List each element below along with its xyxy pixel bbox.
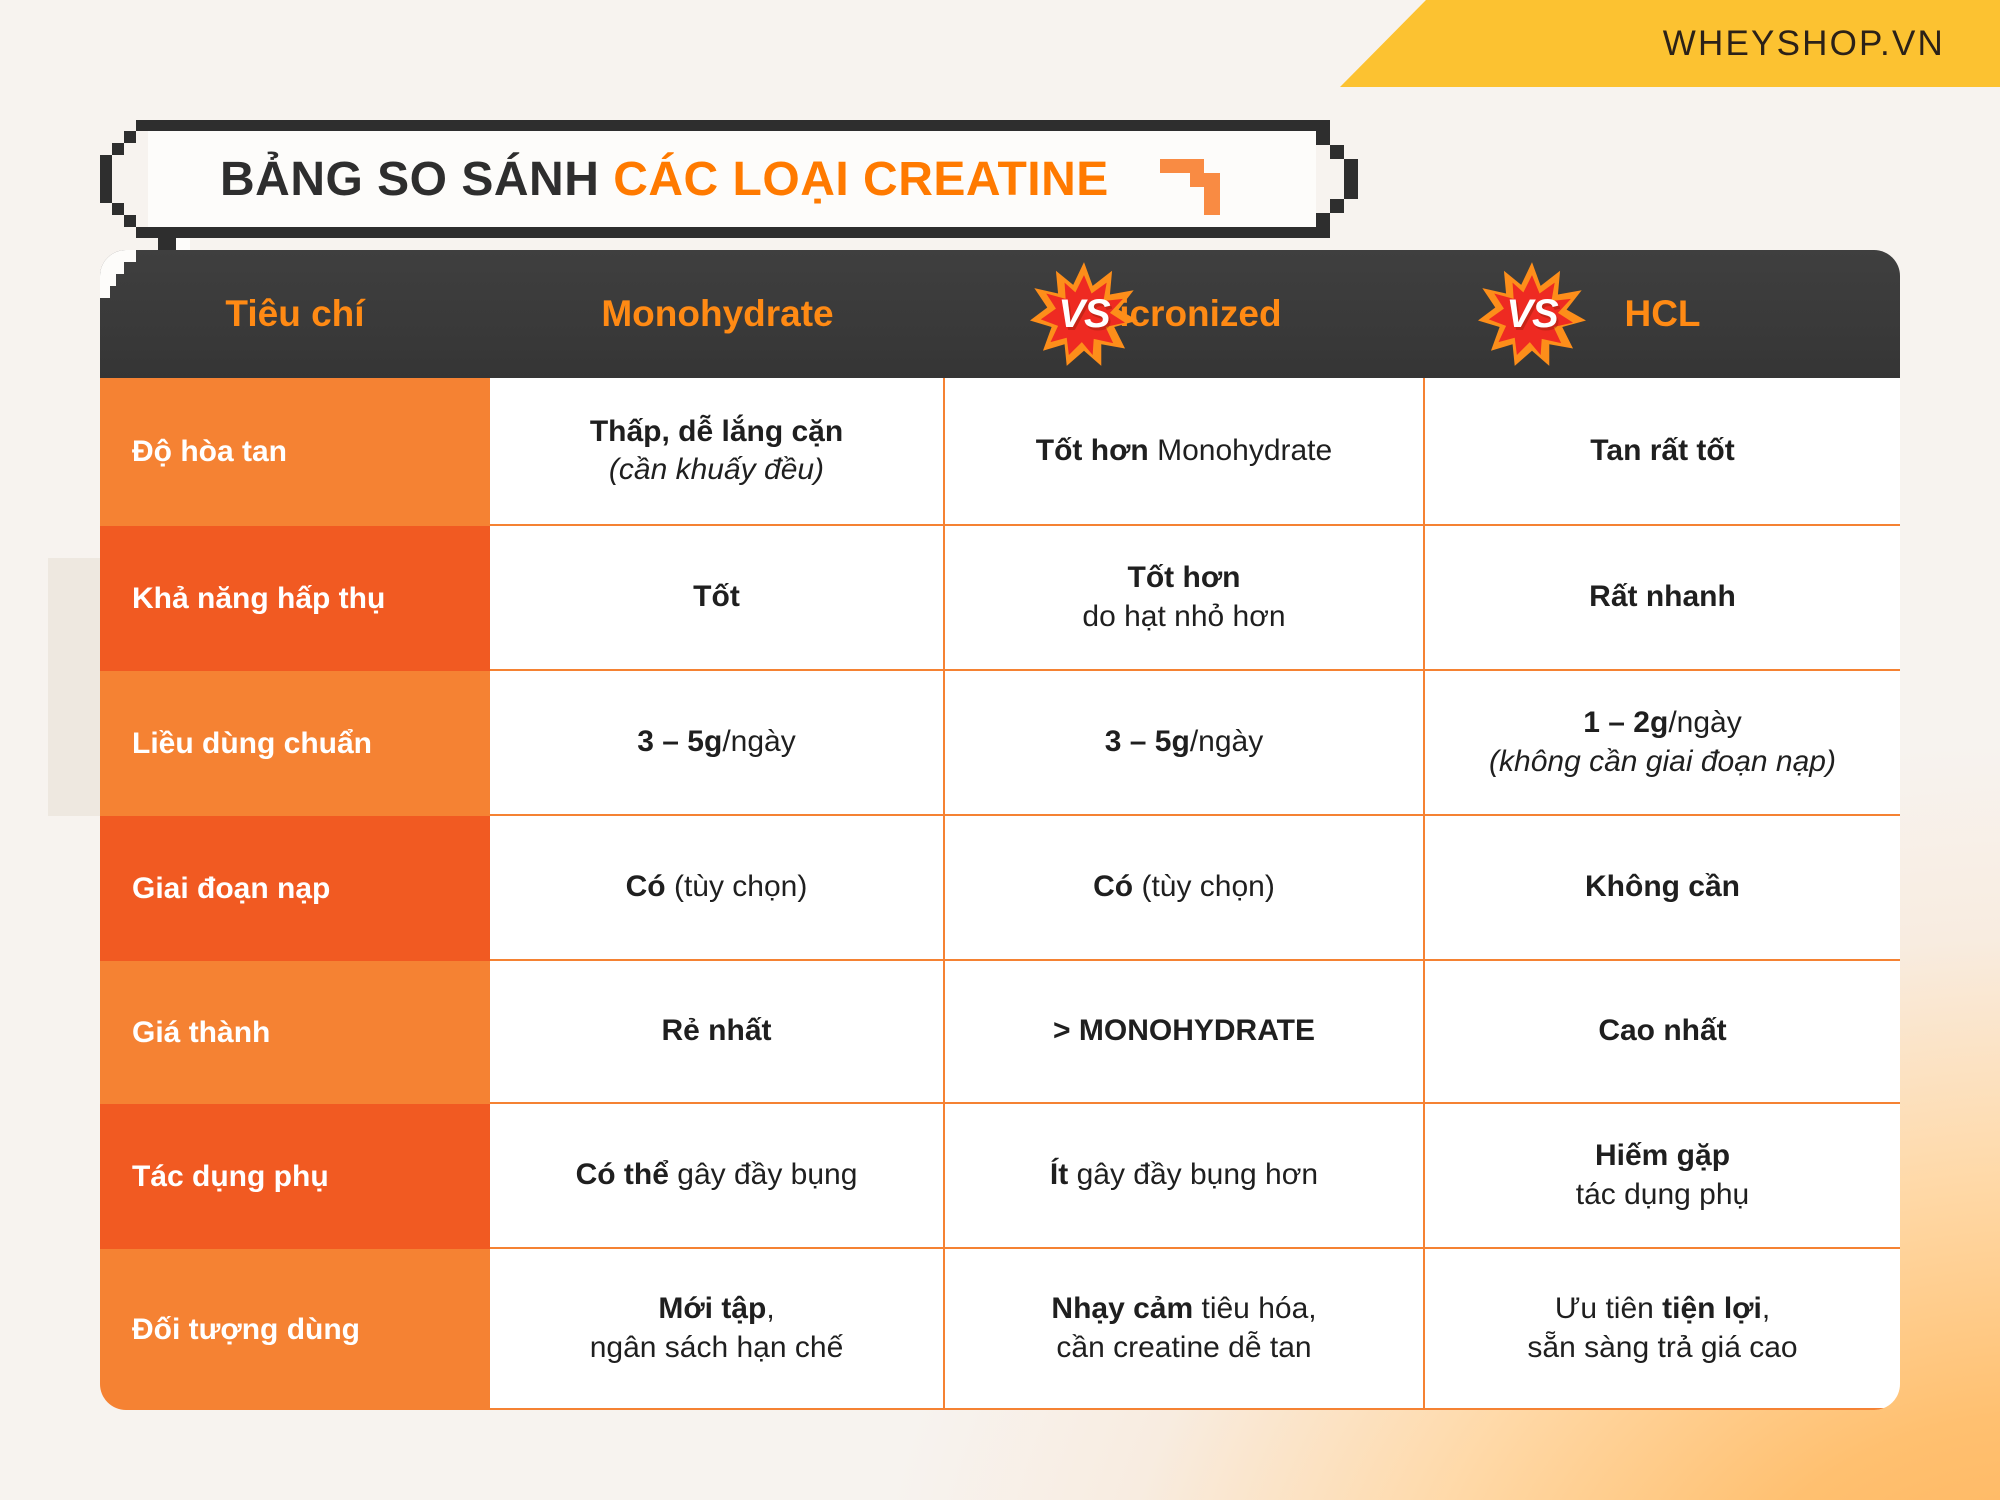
table-cell: Tốt (490, 526, 945, 671)
cell-line-primary: Ít gây đầy bụng hơn (1050, 1156, 1318, 1194)
cell-line-primary: Rẻ nhất (661, 1012, 771, 1050)
ribbon-pixel-step-right (1330, 199, 1344, 213)
cell-line-primary: Nhạy cảm tiêu hóa, (1051, 1290, 1316, 1328)
table-row-label: Độ hòa tan (100, 378, 490, 526)
table-row-label: Khả năng hấp thụ (100, 526, 490, 671)
ribbon-pixel-step-right (1316, 131, 1330, 145)
table-row: Liều dùng chuẩn3 – 5g/ngày3 – 5g/ngày1 –… (100, 671, 1900, 816)
page-title-part1: BẢNG SO SÁNH (220, 153, 613, 206)
table-row: Khả năng hấp thụTốtTốt hơndo hạt nhỏ hơn… (100, 526, 1900, 671)
cell-line-primary: Hiếm gặp (1595, 1137, 1730, 1175)
cell-line-secondary: sẵn sàng trả giá cao (1527, 1329, 1797, 1367)
table-row: Giá thànhRẻ nhất> MONOHYDRATECao nhất (100, 961, 1900, 1104)
cell-line-primary: Thấp, dễ lắng cặn (590, 413, 843, 451)
table-header-cell-hcl: HCL (1425, 250, 1900, 378)
title-ribbon: BẢNG SO SÁNH CÁC LOẠI CREATINE (100, 120, 1330, 238)
cell-line-secondary: (cần khuấy đều) (609, 451, 824, 489)
table-cell: > MONOHYDRATE (945, 961, 1425, 1104)
cell-line-primary: Mới tập, (658, 1290, 774, 1328)
table-row: Giai đoạn nạpCó (tùy chọn)Có (tùy chọn)K… (100, 816, 1900, 961)
pixel-flourish-icon (1160, 159, 1236, 215)
table-cell: Cao nhất (1425, 961, 1900, 1104)
table-cell: Có thể gây đầy bụng (490, 1104, 945, 1249)
ribbon-pixel-step (100, 155, 112, 203)
table-cell: Tốt hơndo hạt nhỏ hơn (945, 526, 1425, 671)
page-title-part2: CÁC LOẠI CREATINE (613, 153, 1109, 206)
table-row-label: Giá thành (100, 961, 490, 1104)
table-header-row: Tiêu chí Monohydrate Micronized HCL VS (100, 250, 1900, 378)
table-row: Độ hòa tanThấp, dễ lắng cặn(cần khuấy đề… (100, 378, 1900, 526)
table-cell: Tan rất tốt (1425, 378, 1900, 526)
ribbon-pixel-step-right (1316, 120, 1330, 131)
ribbon-pixel-step (112, 203, 124, 215)
cell-line-primary: 3 – 5g/ngày (637, 723, 795, 761)
header-label: Micronized (1088, 293, 1281, 335)
table-header-cell-monohydrate: Monohydrate (490, 250, 945, 378)
header-label: Tiêu chí (225, 293, 364, 335)
cell-line-primary: Có (tùy chọn) (1093, 868, 1275, 906)
table-row-label: Giai đoạn nạp (100, 816, 490, 961)
table-cell: Thấp, dễ lắng cặn(cần khuấy đều) (490, 378, 945, 526)
table-cell: Ít gây đầy bụng hơn (945, 1104, 1425, 1249)
page-title: BẢNG SO SÁNH CÁC LOẠI CREATINE (220, 152, 1109, 207)
table-cell: Có (tùy chọn) (490, 816, 945, 961)
cell-line-primary: Rất nhanh (1589, 578, 1736, 616)
cell-line-primary: Không cần (1585, 868, 1740, 906)
ribbon-pixel-step-right (1316, 227, 1330, 238)
table-header-cell-micronized: Micronized (945, 250, 1425, 378)
ribbon-pixel-step (124, 131, 136, 143)
table-cell: Không cần (1425, 816, 1900, 961)
cell-line-primary: Ưu tiên tiện lợi, (1555, 1290, 1770, 1328)
ribbon-pixel-step (112, 143, 124, 155)
table-cell: Rẻ nhất (490, 961, 945, 1104)
table-row: Tác dụng phụCó thể gây đầy bụngÍt gây đầ… (100, 1104, 1900, 1249)
cell-line-secondary: ngân sách hạn chế (590, 1329, 844, 1367)
cell-line-primary: 3 – 5g/ngày (1105, 723, 1263, 761)
ribbon-pixel-step-right (1344, 159, 1358, 199)
cell-line-primary: Có (tùy chọn) (626, 868, 808, 906)
cell-line-secondary: tác dụng phụ (1576, 1176, 1749, 1214)
table-row-label: Liều dùng chuẩn (100, 671, 490, 816)
table-row: Đối tượng dùngMới tập,ngân sách hạn chếN… (100, 1249, 1900, 1410)
cell-line-secondary: (không cần giai đoạn nạp) (1489, 743, 1836, 781)
table-row-label: Đối tượng dùng (100, 1249, 490, 1410)
table-cell: 3 – 5g/ngày (945, 671, 1425, 816)
header-label: Monohydrate (601, 293, 833, 335)
cell-line-primary: Có thể gây đầy bụng (576, 1156, 858, 1194)
brand-banner: WHEYSHOP.VN (1340, 0, 2000, 87)
table-cell: 3 – 5g/ngày (490, 671, 945, 816)
ribbon-pixel-step (136, 227, 148, 238)
table-cell: Tốt hơn Monohydrate (945, 378, 1425, 526)
ribbon-pixel-step (124, 215, 136, 227)
ribbon-pixel-step-right (1316, 213, 1330, 227)
table-cell: Hiếm gặptác dụng phụ (1425, 1104, 1900, 1249)
comparison-table: Tiêu chí Monohydrate Micronized HCL VS (100, 250, 1900, 1410)
title-bar: BẢNG SO SÁNH CÁC LOẠI CREATINE (148, 120, 1316, 238)
table-cell: Rất nhanh (1425, 526, 1900, 671)
table-cell: Nhạy cảm tiêu hóa,cần creatine dễ tan (945, 1249, 1425, 1410)
cell-line-primary: Tốt hơn (1128, 559, 1241, 597)
header-notch (100, 250, 160, 310)
table-row-label: Tác dụng phụ (100, 1104, 490, 1249)
header-label: HCL (1624, 293, 1700, 335)
ribbon-pixel-step (136, 120, 148, 131)
brand-name: WHEYSHOP.VN (1663, 24, 1945, 64)
table-cell: Ưu tiên tiện lợi,sẵn sàng trả giá cao (1425, 1249, 1900, 1410)
cell-line-primary: Cao nhất (1598, 1012, 1726, 1050)
table-cell: Có (tùy chọn) (945, 816, 1425, 961)
table-cell: Mới tập,ngân sách hạn chế (490, 1249, 945, 1410)
cell-line-primary: Tốt (693, 578, 740, 616)
table-body: Độ hòa tanThấp, dễ lắng cặn(cần khuấy đề… (100, 378, 1900, 1410)
cell-line-secondary: cần creatine dễ tan (1056, 1329, 1311, 1367)
cell-line-primary: Tốt hơn Monohydrate (1036, 432, 1332, 470)
cell-line-primary: 1 – 2g/ngày (1583, 704, 1741, 742)
cell-line-secondary: do hạt nhỏ hơn (1082, 598, 1285, 636)
table-cell: 1 – 2g/ngày(không cần giai đoạn nạp) (1425, 671, 1900, 816)
ribbon-pixel-step-right (1330, 145, 1344, 159)
cell-line-primary: > MONOHYDRATE (1053, 1012, 1315, 1050)
cell-line-primary: Tan rất tốt (1590, 432, 1734, 470)
